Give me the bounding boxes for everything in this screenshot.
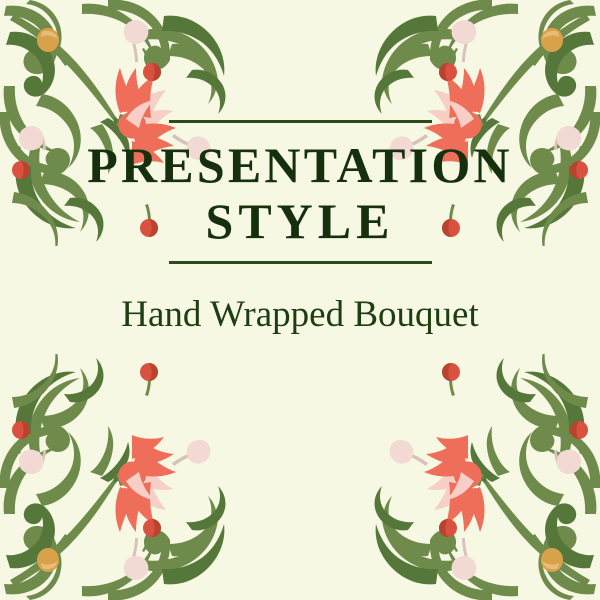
flower-petal-5 <box>454 68 477 112</box>
leaf-swirl-left-1 <box>519 432 564 506</box>
berry-stem-3 <box>449 378 455 396</box>
gold-berry-highlight <box>41 561 58 569</box>
leaf-blade-top-1 <box>382 28 456 80</box>
leaf-tip-1 <box>186 486 225 530</box>
red-berry-1 <box>439 63 457 81</box>
corner-ornament-bottom-right <box>354 354 600 600</box>
pale-bud-2 <box>556 450 581 474</box>
flower-petal-7 <box>462 487 485 532</box>
red-berry-2 <box>570 421 588 439</box>
leaf-blade-left-1 <box>28 378 80 452</box>
poster-canvas: PRESENTATION STYLE Hand Wrapped Bouquet <box>0 0 600 600</box>
pale-bud-stem-1 <box>462 538 469 562</box>
leaf-blade-top-2 <box>376 16 438 76</box>
berry-stem-1 <box>142 48 151 66</box>
floral-flourish-group <box>375 354 600 600</box>
leaf-flower-stem <box>464 462 486 484</box>
leaf-curl-corner-2 <box>545 503 594 568</box>
leaf-curl-upper-right <box>383 44 432 104</box>
leaf-scroll-top-2 <box>108 530 170 600</box>
leaf-curl-corner-2 <box>6 503 55 568</box>
flower-petal-9 <box>446 472 474 500</box>
leaf-swirl-left-1 <box>36 432 81 506</box>
page-subtitle: Hand Wrapped Bouquet <box>0 294 600 337</box>
flower-petal-3 <box>446 76 473 118</box>
leaf-scroll-left-1 <box>4 446 64 514</box>
flower-petal-3 <box>127 76 154 118</box>
flower-petal-2 <box>130 463 173 490</box>
leaf-sepal-2 <box>90 426 113 476</box>
pale-bud-stem-2 <box>554 450 561 468</box>
pale-bud-stem-1 <box>131 538 138 562</box>
leaf-sepal-3 <box>116 441 153 486</box>
leaf-scroll-top-2 <box>430 0 492 70</box>
leaf-curl-corner-3 <box>538 0 574 62</box>
gold-berry-stem <box>53 50 68 66</box>
flower-petal-9 <box>126 472 154 500</box>
flower-center <box>118 462 146 489</box>
leaf-blade-top-2 <box>162 16 224 76</box>
page-title-line-1: PRESENTATION <box>87 137 513 193</box>
leaf-blade-left-2 <box>524 372 584 434</box>
leaf-curl-corner-2 <box>545 32 594 97</box>
pale-bud-stem-1 <box>462 38 469 62</box>
gold-berry <box>541 548 563 572</box>
leaf-scroll-top-1 <box>82 536 156 596</box>
flower-petal-7 <box>462 68 485 113</box>
pale-bud-3 <box>390 440 414 464</box>
flower-petal-7 <box>116 487 139 532</box>
flower-petal-4 <box>424 450 468 477</box>
berry-stem-3 <box>145 378 151 396</box>
divider-rule-bottom <box>169 261 432 264</box>
page-title: PRESENTATION STYLE <box>0 137 600 249</box>
leaf-tip-1 <box>375 486 414 530</box>
center-text-block: PRESENTATION STYLE Hand Wrapped Bouquet <box>0 120 600 337</box>
pale-bud-1 <box>124 20 149 44</box>
red-berry-1-shade <box>152 519 161 537</box>
flower-petal-6 <box>426 440 467 465</box>
flower-petal-3 <box>127 482 154 524</box>
pale-bud-stem-3 <box>172 453 192 466</box>
pale-bud-1 <box>452 20 477 44</box>
leaf-blade-top-1 <box>382 520 456 572</box>
red-berry-1 <box>143 63 161 81</box>
leaf-curl-lower-left <box>511 368 560 428</box>
leaf-curl-corner-1 <box>4 6 58 75</box>
leaf-tip-1 <box>375 70 414 114</box>
gold-berry <box>541 28 563 52</box>
leaf-curl-corner-1 <box>4 526 58 595</box>
pale-bud-stem-1 <box>131 38 138 62</box>
leaf-curl-corner-1 <box>543 526 597 595</box>
berry-group <box>390 363 588 580</box>
leaf-sepal-3 <box>447 441 484 486</box>
coral-flower <box>116 435 177 532</box>
flower-petal-5 <box>454 488 477 532</box>
leaf-stem-main <box>10 457 129 586</box>
divider-rule-top <box>169 120 432 123</box>
berry-stem-1 <box>142 534 151 552</box>
berry-stem-2 <box>577 436 583 454</box>
pale-bud-1 <box>452 556 477 580</box>
leaf-blade-left-2 <box>16 372 76 434</box>
pale-bud-stem-3 <box>408 453 428 466</box>
flower-petal-5 <box>124 68 147 112</box>
flower-petal-1 <box>434 476 472 510</box>
red-berry-3 <box>442 363 460 381</box>
red-berry-2 <box>12 421 30 439</box>
red-berry-3 <box>140 363 158 381</box>
red-berry-1 <box>439 519 457 537</box>
leaf-curl-upper-right <box>168 496 217 556</box>
leaf-scroll-top-1 <box>82 4 156 64</box>
leaf-scroll-top-1 <box>444 536 518 596</box>
coral-flower <box>424 435 485 532</box>
flower-petal-5 <box>124 488 147 532</box>
leaf-tip-1 <box>186 70 225 114</box>
gold-berry-stem <box>532 50 547 66</box>
pale-bud-1 <box>124 556 149 580</box>
flower-petal-1 <box>128 90 166 124</box>
leaf-blade-top-1 <box>144 28 218 80</box>
leaf-tip-2 <box>497 358 536 402</box>
red-berry-1 <box>143 519 161 537</box>
flower-petal-1 <box>128 476 166 510</box>
red-berry-1-shade <box>439 63 448 81</box>
leaf-flower-stem <box>114 462 136 484</box>
leaf-blade-top-1 <box>144 520 218 572</box>
red-berry-2-shade <box>570 421 579 439</box>
leaf-scroll-left-1 <box>536 446 596 514</box>
leaf-curl-corner-2 <box>6 32 55 97</box>
red-berry-3-shade <box>442 363 451 381</box>
leaf-curl-upper-right <box>168 44 217 104</box>
gold-berry-stem <box>532 534 547 550</box>
red-berry-1-shade <box>152 63 161 81</box>
gold-berry-highlight <box>41 31 58 39</box>
leaf-blade-left-1 <box>520 378 572 452</box>
flower-petal-7 <box>116 68 139 113</box>
berry-group <box>12 363 210 580</box>
berry-stem-1 <box>449 534 458 552</box>
leaf-curl-corner-3 <box>538 538 574 600</box>
page-title-line-2: STYLE <box>10 193 590 249</box>
red-berry-3-shade <box>149 363 158 381</box>
pale-bud-stem-2 <box>39 450 46 468</box>
gold-berry-stem <box>53 534 68 550</box>
flower-petal-8 <box>132 435 164 459</box>
leaf-scroll-top-2 <box>430 530 492 600</box>
leaf-sepal-1 <box>471 442 501 482</box>
leaf-scroll-top-1 <box>444 4 518 64</box>
pale-bud-2 <box>19 450 44 474</box>
leaf-stem-main <box>471 457 590 586</box>
leaf-curl-corner-1 <box>543 6 597 75</box>
leaf-curl-corner-3 <box>26 538 62 600</box>
red-berry-1-shade <box>439 519 448 537</box>
corner-ornament-bottom-left <box>0 354 246 600</box>
leaf-curl-corner-3 <box>26 0 62 62</box>
pale-bud-3 <box>187 440 211 464</box>
leaf-scroll-left-2 <box>0 426 70 488</box>
red-berry-2-shade <box>21 421 30 439</box>
flower-petal-2 <box>427 463 470 490</box>
flower-petal-3 <box>446 482 473 524</box>
berry-stem-2 <box>17 436 23 454</box>
leaf-scroll-left-2 <box>530 426 600 488</box>
leaf-tip-2 <box>64 358 103 402</box>
leaf-curl-upper-right <box>383 496 432 556</box>
leaf-curl-lower-left <box>40 368 89 428</box>
gold-berry-highlight <box>542 561 559 569</box>
flower-center <box>454 462 482 489</box>
leaf-blade-top-2 <box>162 524 224 584</box>
flower-petal-4 <box>132 450 176 477</box>
flower-petal-8 <box>436 435 468 459</box>
gold-berry <box>37 548 59 572</box>
leaf-scroll-top-2 <box>108 0 170 70</box>
leaf-blade-top-2 <box>376 524 438 584</box>
leaf-sepal-1 <box>100 442 130 482</box>
berry-stem-1 <box>449 48 458 66</box>
flower-petal-1 <box>434 90 472 124</box>
gold-berry <box>37 28 59 52</box>
leaf-swirl-left-2 <box>12 354 58 408</box>
leaf-swirl-left-2 <box>542 354 588 408</box>
floral-flourish-group <box>0 354 225 600</box>
flower-petal-6 <box>133 440 174 465</box>
gold-berry-highlight <box>542 31 559 39</box>
leaf-sepal-2 <box>487 426 510 476</box>
